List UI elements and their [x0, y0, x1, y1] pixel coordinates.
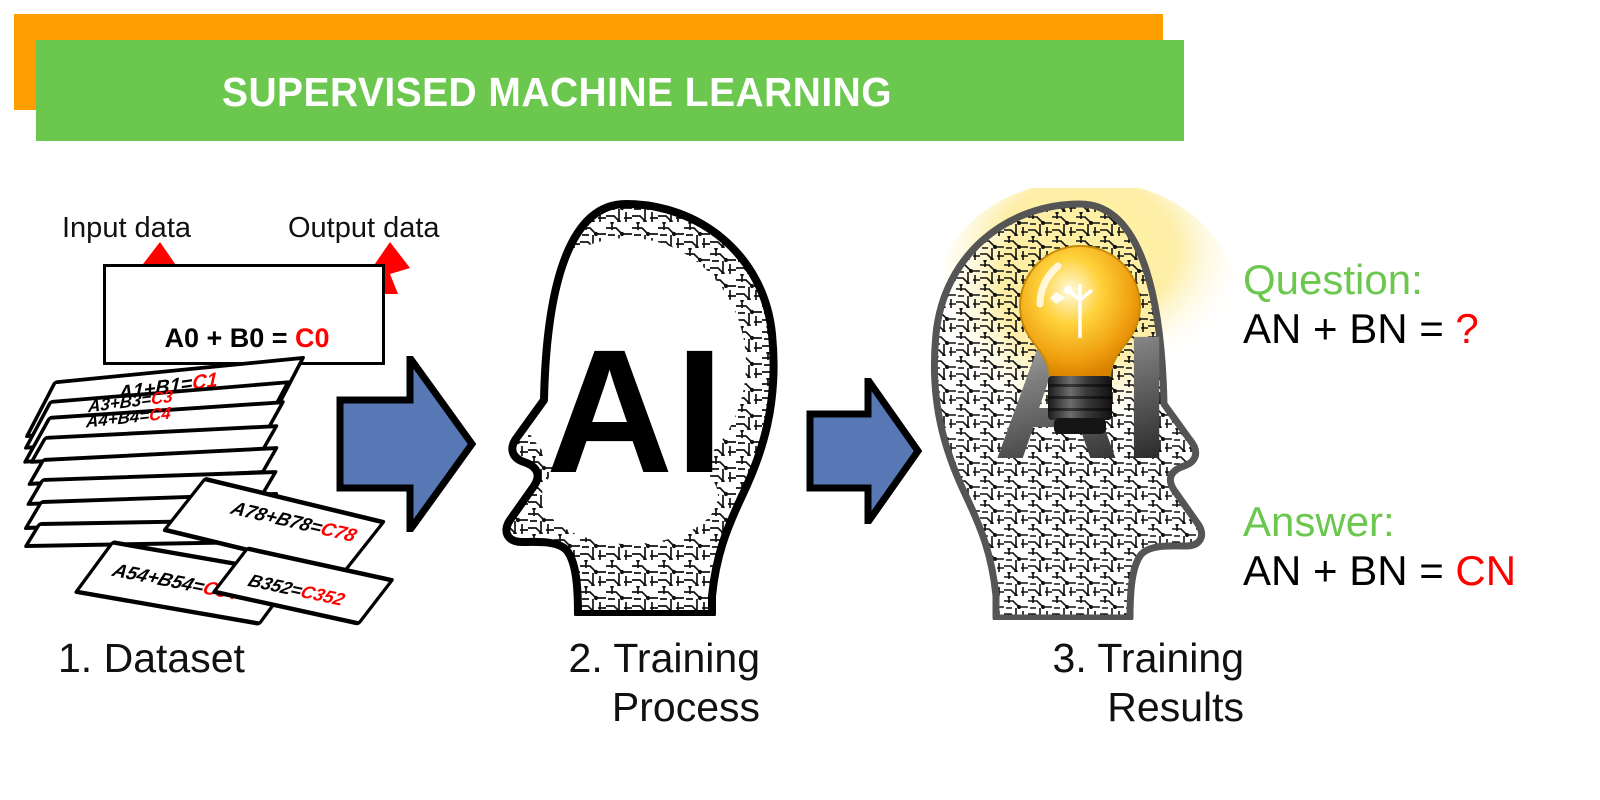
answer-block: Answer: AN + BN = CN — [1243, 498, 1593, 596]
answer-equation: AN + BN = CN — [1243, 546, 1593, 596]
ai-head-training: AI — [450, 196, 790, 616]
page-title: SUPERVISED MACHINE LEARNING — [222, 66, 1077, 118]
dataset-card-stack: A1+B1=C1 A3+B3=C3 A4+B4=C4 A78+B78=C78 A… — [40, 350, 380, 630]
answer-equation-result: CN — [1455, 547, 1516, 594]
answer-label: Answer: — [1243, 498, 1593, 546]
ai-head-results: AI — [908, 188, 1258, 620]
stage-1-caption: 1. Dataset — [58, 634, 245, 683]
sample-equation-result: C0 — [295, 323, 330, 353]
question-equation: AN + BN = ? — [1243, 304, 1593, 354]
question-label: Question: — [1243, 256, 1593, 304]
question-equation-result: ? — [1455, 305, 1478, 352]
question-equation-left: AN + BN = — [1243, 305, 1455, 352]
answer-equation-left: AN + BN = — [1243, 547, 1455, 594]
ai-head-letters: AI — [546, 324, 726, 500]
stage-3-caption: 3. Training Results — [1020, 634, 1244, 732]
right-arrow-icon — [806, 378, 922, 524]
sample-equation-left: A0 + B0 = — [164, 323, 295, 353]
results-panel: Question: AN + BN = ? Answer: AN + BN = … — [1243, 256, 1593, 596]
stage-2-caption: 2. Training Process — [560, 634, 760, 732]
